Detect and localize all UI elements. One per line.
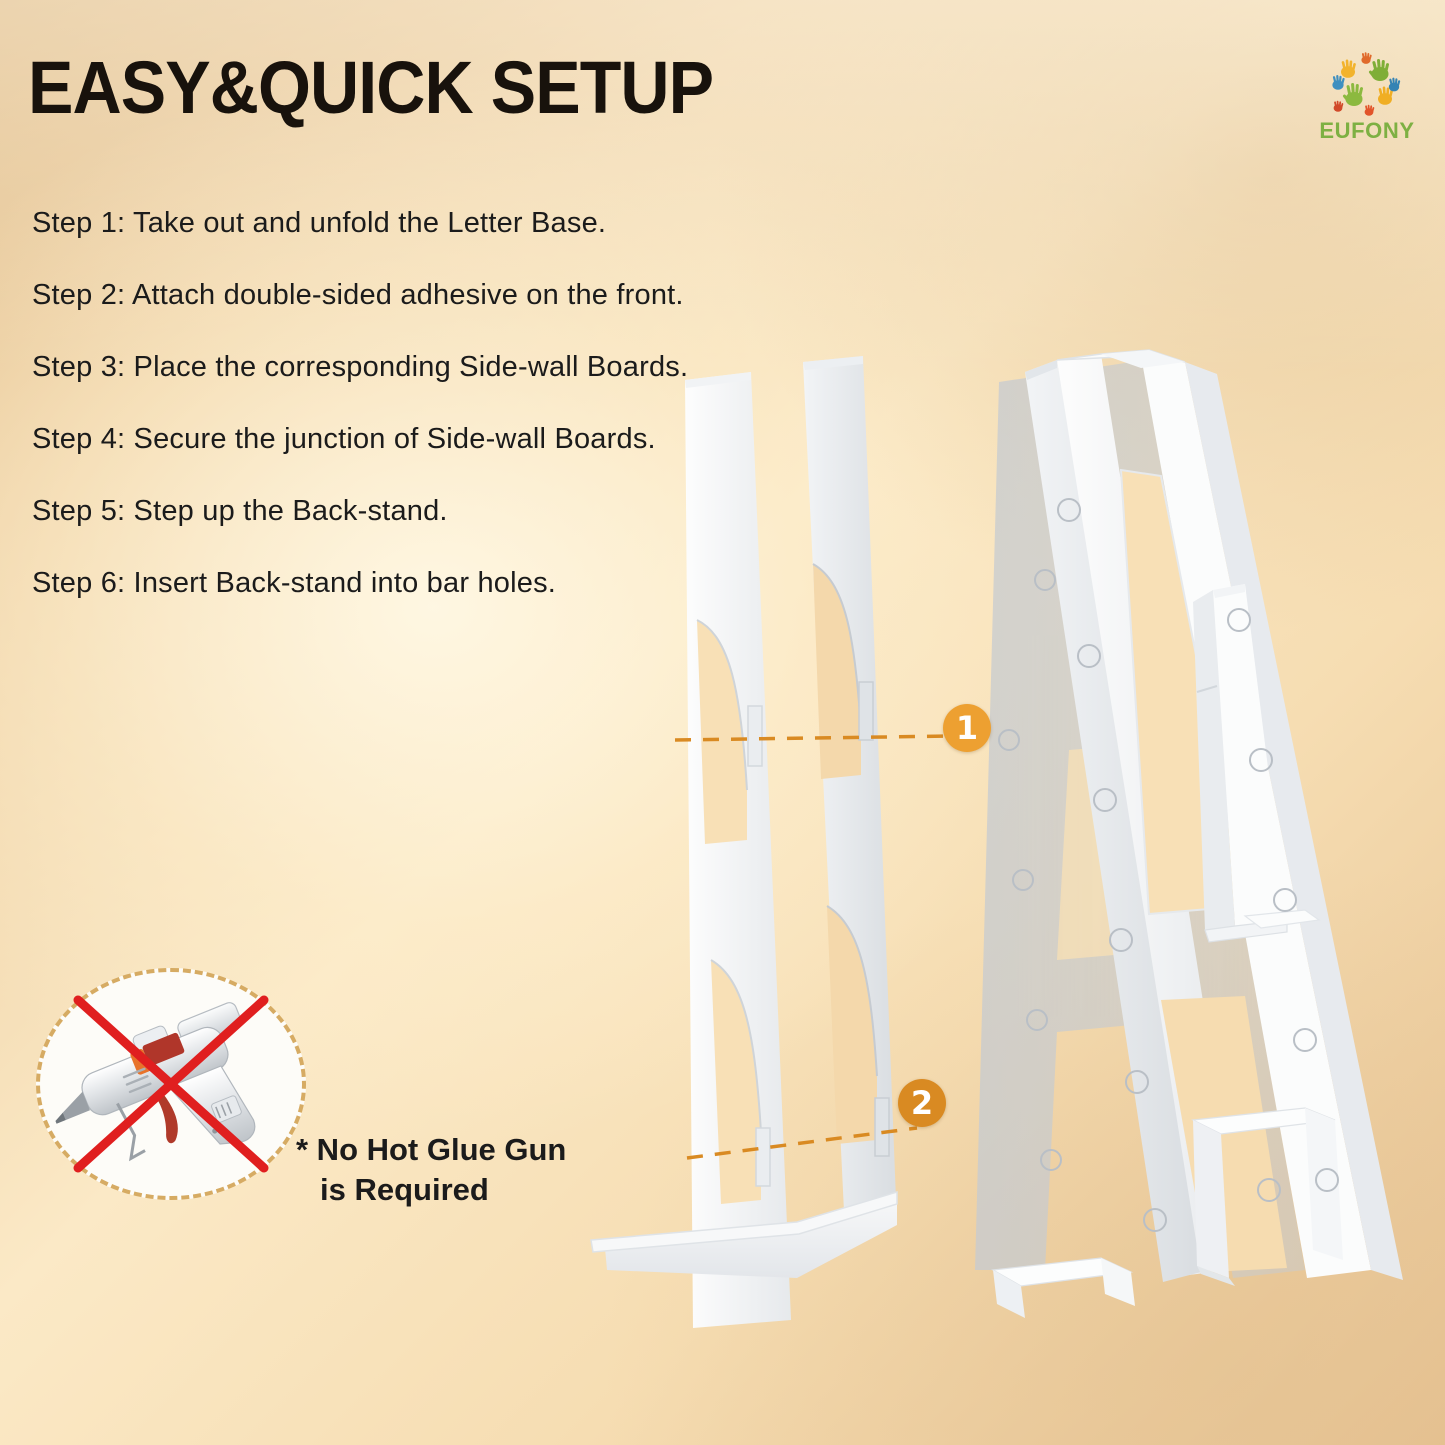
hands-circle-icon — [1324, 52, 1410, 118]
page-title: EASY&QUICK SETUP — [28, 46, 713, 130]
product-illustration — [545, 320, 1425, 1330]
no-glue-warning-text: * No Hot Glue Gun is Required — [296, 1130, 596, 1210]
step-item-2: Step 2: Attach double-sided adhesive on … — [32, 277, 752, 314]
letter-a-assembly-graphic — [545, 320, 1425, 1330]
instruction-page: EASY&QUICK SETUP — [0, 0, 1445, 1445]
brand-name: EUFONY — [1308, 118, 1426, 144]
notch-tab-lower — [756, 1128, 770, 1186]
step-item-1: Step 1: Take out and unfold the Letter B… — [32, 205, 752, 242]
warning-line-1: * No Hot Glue Gun — [296, 1132, 566, 1167]
notch-tab-upper — [748, 706, 762, 766]
no-hot-glue-gun-badge — [36, 968, 306, 1200]
callout-badge-1: 1 — [943, 704, 991, 752]
side-wall-boards — [591, 356, 897, 1328]
warning-line-2: is Required — [296, 1170, 596, 1210]
callout-badge-2: 2 — [898, 1079, 946, 1127]
no-hot-glue-gun-icon — [48, 978, 294, 1190]
brand-logo: EUFONY — [1308, 52, 1426, 154]
